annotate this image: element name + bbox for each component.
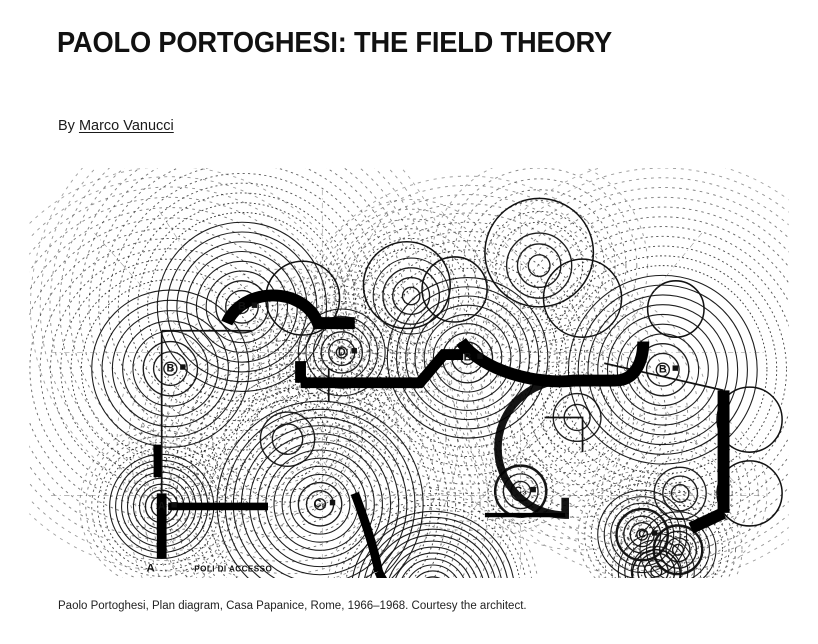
article-page: PAOLO PORTOGHESI: THE FIELD THEORY By Ma… xyxy=(0,0,818,644)
pole-d-center-left-label: D xyxy=(338,346,346,358)
figure: Architectural plan diagram composed of o… xyxy=(0,168,818,578)
pole-b-left-label: B xyxy=(166,363,174,375)
legend-dash: - xyxy=(186,564,189,573)
pole-center-marker xyxy=(171,502,176,507)
pole-b-right-label: B xyxy=(659,364,667,376)
plan-diagram-image: Architectural plan diagram composed of o… xyxy=(29,168,789,578)
pole-center-marker xyxy=(673,365,678,370)
pole-center-marker xyxy=(330,500,335,505)
pole-center-marker xyxy=(530,487,535,492)
byline-prefix: By xyxy=(58,118,79,134)
legend-text: POLI DI ACCESSO xyxy=(194,564,272,573)
figure-caption: Paolo Portoghesi, Plan diagram, Casa Pap… xyxy=(58,598,527,614)
legend-key: A xyxy=(147,562,155,574)
pole-c3-center-right-label: C₃ xyxy=(514,485,527,497)
pole-center-marker xyxy=(477,353,482,358)
author-link[interactable]: Marco Vanucci xyxy=(79,118,174,134)
byline: By Marco Vanucci xyxy=(58,117,174,135)
pole-center-marker xyxy=(352,348,357,353)
pole-a-left-label: A xyxy=(158,500,166,512)
pole-b-center-label: B xyxy=(464,352,472,364)
pole-center-marker xyxy=(652,530,657,535)
pole-c-bottom-right-label: C xyxy=(638,528,646,540)
pole-center-marker xyxy=(180,364,185,369)
pole-center-marker xyxy=(252,302,257,307)
pole-b-upper-left-label: B xyxy=(238,301,246,313)
page-title: PAOLO PORTOGHESI: THE FIELD THEORY xyxy=(57,26,612,60)
legend-key: B xyxy=(147,577,155,578)
pole-c2-center-label: C₂ xyxy=(314,498,327,510)
